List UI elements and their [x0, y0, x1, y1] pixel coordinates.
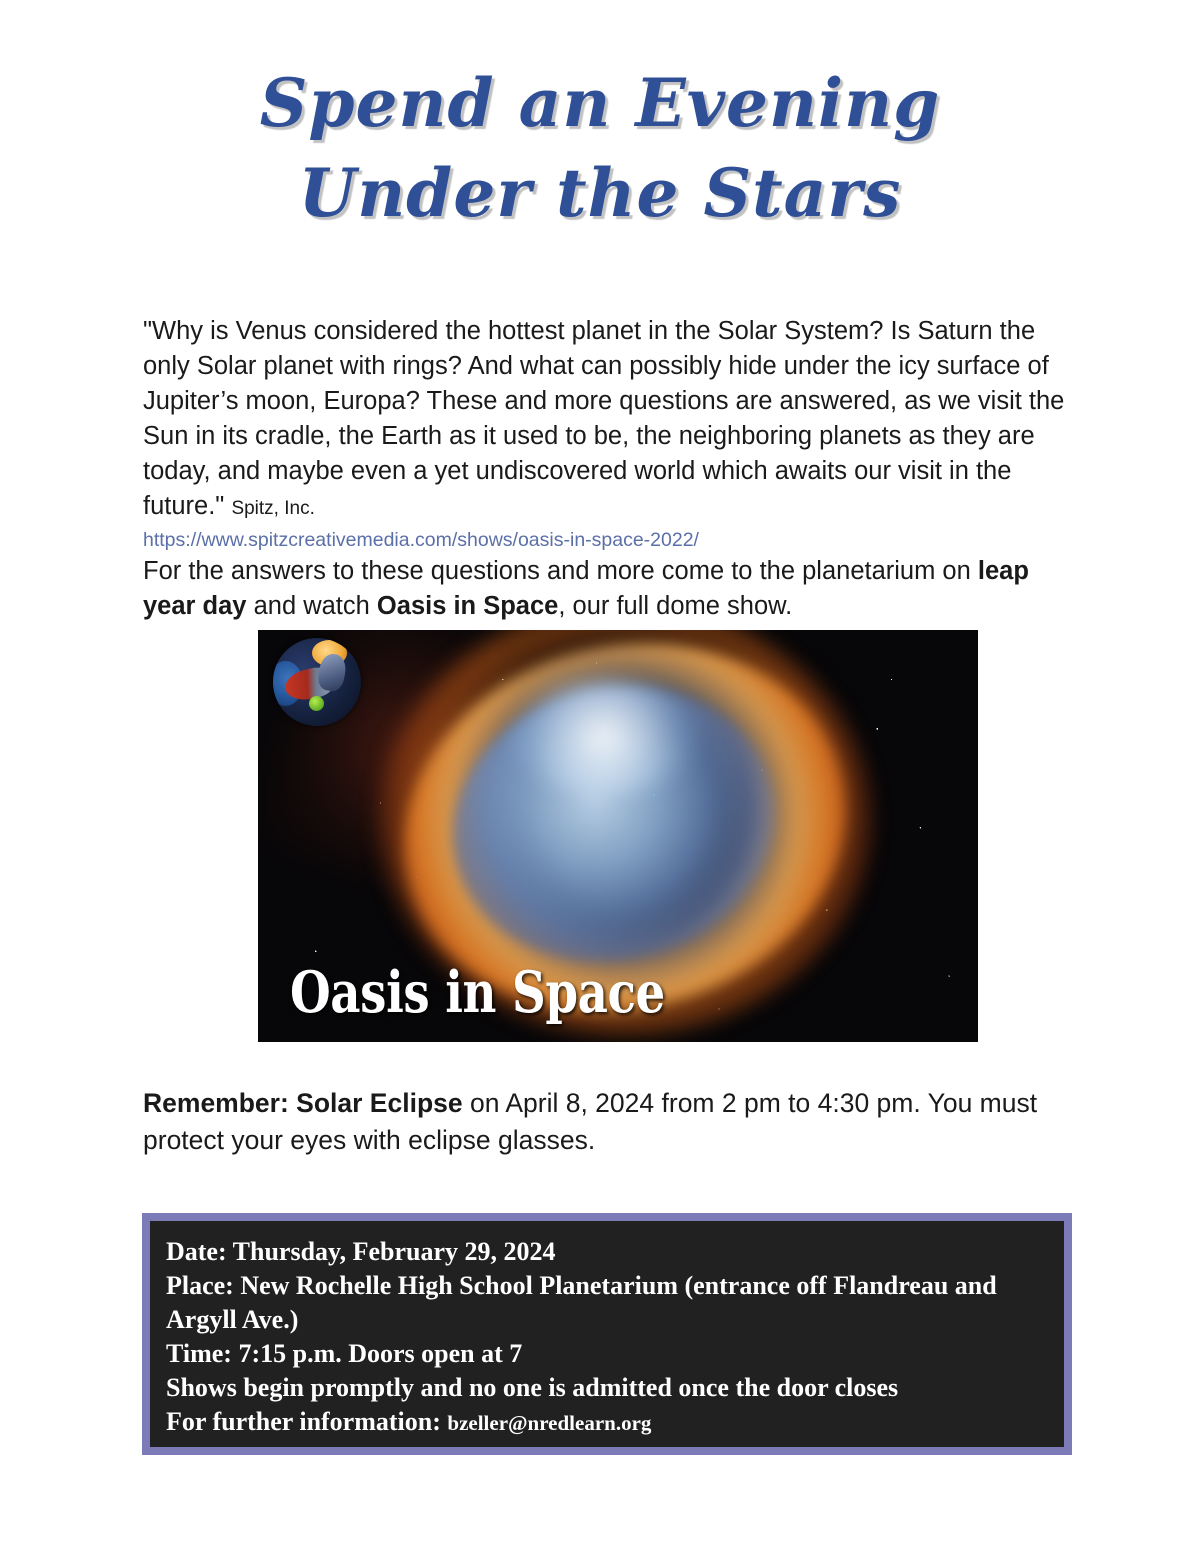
- cta-text-1: For the answers to these questions and m…: [143, 557, 978, 585]
- show-description-credit: Spitz, Inc.: [231, 498, 314, 519]
- show-description-quote: "Why is Venus considered the hottest pla…: [143, 317, 1064, 520]
- event-detail-date: Date: Thursday, February 29, 2024: [166, 1235, 1050, 1269]
- eclipse-reminder-lead: Remember: Solar Eclipse: [143, 1088, 463, 1118]
- event-detail-contact: For further information: bzeller@nredlea…: [166, 1405, 1050, 1440]
- call-to-action-paragraph: For the answers to these questions and m…: [143, 554, 1073, 624]
- event-detail-policy: Shows begin promptly and no one is admit…: [166, 1371, 1050, 1405]
- event-details-inner: Date: Thursday, February 29, 2024 Place:…: [150, 1221, 1064, 1447]
- cta-text-2: and watch: [247, 592, 377, 620]
- show-description-paragraph: "Why is Venus considered the hottest pla…: [143, 314, 1073, 526]
- source-url-link[interactable]: https://www.spitzcreativemedia.com/shows…: [143, 526, 1073, 554]
- event-detail-time: Time: 7:15 p.m. Doors open at 7: [166, 1337, 1050, 1371]
- eclipse-reminder-block: Remember: Solar Eclipse on April 8, 2024…: [143, 1085, 1073, 1159]
- event-detail-contact-label: For further information:: [166, 1407, 447, 1436]
- event-detail-place: Place: New Rochelle High School Planetar…: [166, 1269, 1050, 1337]
- cta-text-3: , our full dome show.: [558, 592, 792, 620]
- eclipse-reminder-text: Remember: Solar Eclipse on April 8, 2024…: [143, 1085, 1073, 1159]
- description-block: "Why is Venus considered the hottest pla…: [143, 314, 1073, 624]
- event-detail-contact-email[interactable]: bzeller@nredlearn.org: [447, 1411, 651, 1435]
- page-title: Spend an Evening Under the Stars: [0, 58, 1200, 238]
- show-poster-image: Oasis in Space: [258, 630, 978, 1042]
- planetarium-logo-icon: [273, 638, 361, 726]
- page-title-line-2: Under the Stars: [0, 148, 1200, 238]
- page-title-line-1: Spend an Evening: [0, 58, 1200, 148]
- cta-bold-show-name: Oasis in Space: [377, 592, 558, 620]
- nebula-bright-knot: [510, 679, 697, 794]
- show-poster-title: Oasis in Space: [290, 963, 665, 1023]
- logo-green-planet-icon: [309, 696, 324, 711]
- event-details-box: Date: Thursday, February 29, 2024 Place:…: [142, 1213, 1072, 1455]
